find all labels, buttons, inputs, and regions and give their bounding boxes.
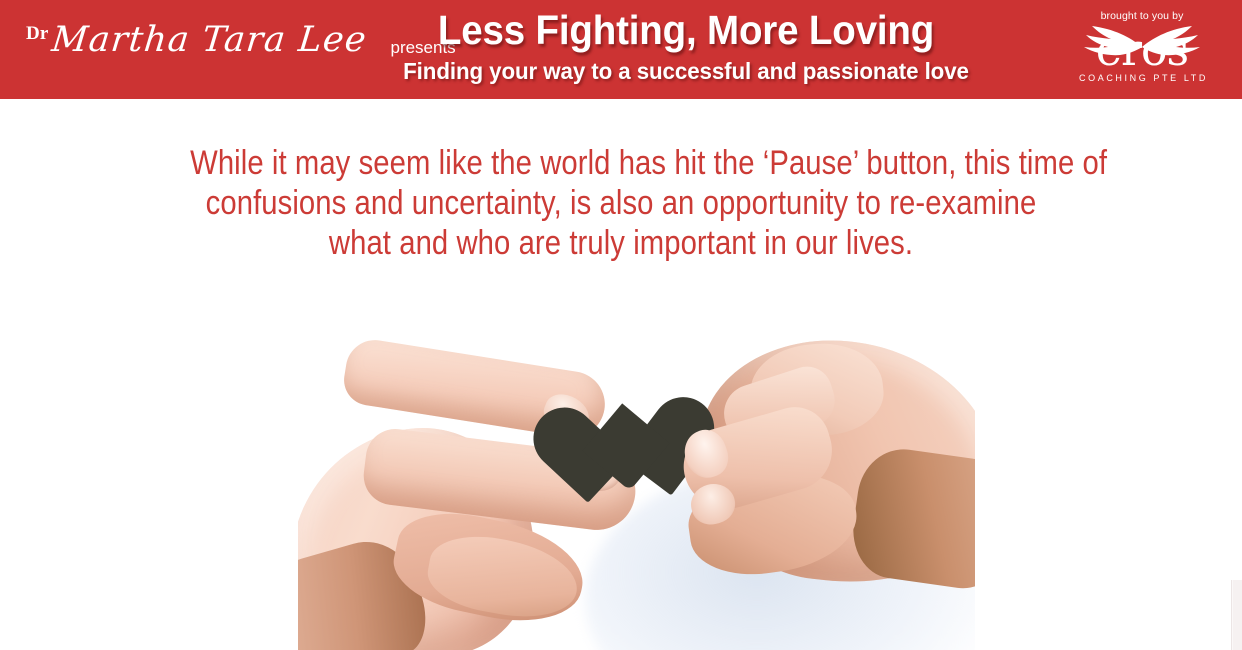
quote-block: While it may seem like the world has hit… <box>190 143 1052 263</box>
logo-tagline: brought to you by <box>1058 10 1226 22</box>
header-titles: Less Fighting, More Loving Finding your … <box>330 4 1042 85</box>
quote-line: While it may seem like the world has hit… <box>190 143 1052 183</box>
eros-logo[interactable]: brought to you by eros COACHING PTE LTD <box>1058 10 1226 83</box>
hands-heart-photo <box>298 334 975 650</box>
presenter-honorific: Dr <box>26 23 49 45</box>
paper-heart-icon <box>561 381 693 513</box>
logo-mark: eros <box>1058 23 1226 75</box>
page-title: Less Fighting, More Loving <box>351 4 1020 56</box>
quote-line: confusions and uncertainty, is also an o… <box>190 183 1052 223</box>
scrollbar-thumb[interactable] <box>1233 580 1242 650</box>
page-subtitle: Finding your way to a successful and pas… <box>348 57 1024 85</box>
page-header: Dr Martha Tara Lee presents Less Fightin… <box>0 0 1242 99</box>
vertical-scrollbar[interactable] <box>1231 580 1242 650</box>
quote-line: what and who are truly important in our … <box>190 223 1052 263</box>
logo-wordmark: eros <box>1058 29 1226 73</box>
presenter-name: Martha Tara Lee <box>50 23 369 58</box>
